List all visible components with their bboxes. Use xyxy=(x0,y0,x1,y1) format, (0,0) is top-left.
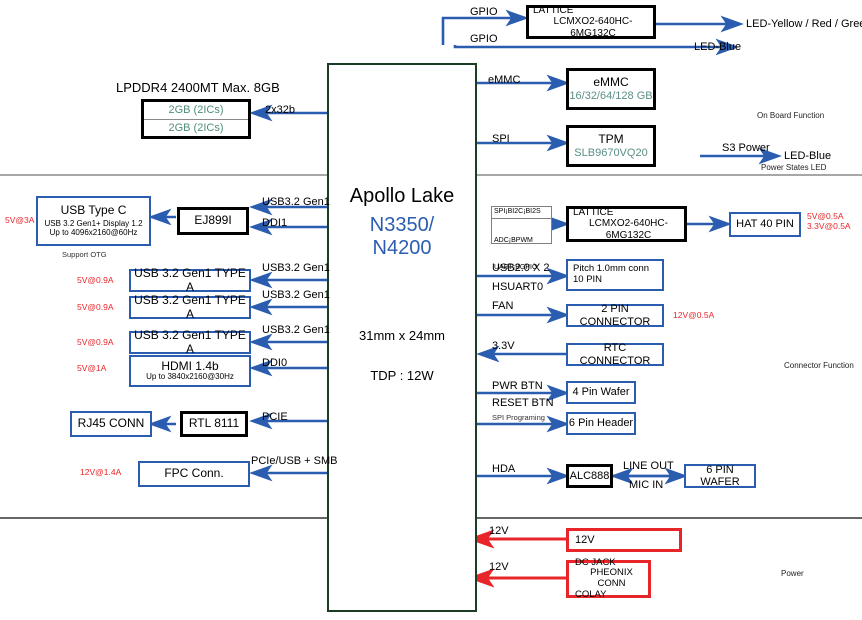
typec-sub2: Up to 4096x2160@60Hz xyxy=(50,229,138,238)
power-rail-1-signal: 12V xyxy=(489,525,509,538)
section-label-connector-function: Connector Function xyxy=(784,361,854,370)
lattice-cpld-onboard[interactable]: LATTICE LCMXO2-640HC-6MG132C xyxy=(526,5,656,39)
emmc-module[interactable]: eMMC 16/32/64/128 GB xyxy=(566,68,656,110)
fan-power-label: 12V@0.5A xyxy=(673,311,714,321)
line-out-label: LINE OUT xyxy=(623,460,674,473)
hdmi-title: HDMI 1.4b xyxy=(161,360,218,373)
usb-type-c-port[interactable]: USB Type C USB 3.2 Gen1+ Display 1.2 Up … xyxy=(36,196,151,246)
pitch-conn-line2: 10 PIN xyxy=(573,275,602,286)
rj45-label: RJ45 CONN xyxy=(78,417,145,430)
power-12v-input[interactable]: 12V xyxy=(566,528,682,552)
soc-title: Apollo Lake xyxy=(350,185,455,208)
rtc-signal-label: 3.3V xyxy=(492,340,515,353)
reset-btn-signal-label: RESET BTN xyxy=(492,397,554,410)
memory-module[interactable]: 2GB (2ICs) 2GB (2ICs) xyxy=(141,99,251,139)
section-label-power-states-led: Power States LED xyxy=(761,163,826,172)
lattice-cpld-hat[interactable]: LATTICE LCMXO2-640HC-6MG132C xyxy=(566,206,687,242)
memory-cell-label: 2GB (2ICs) xyxy=(168,104,223,116)
rtl8111-phy[interactable]: RTL 8111 xyxy=(180,411,248,437)
section-label-power: Power xyxy=(781,569,804,578)
typec-signal-usb: USB3.2 Gen1 xyxy=(262,196,330,209)
power-12v-label: 12V xyxy=(575,534,595,546)
gpio-signal-label: GPIO xyxy=(470,33,498,46)
ej899i-redriver[interactable]: EJ899I xyxy=(177,207,249,235)
memory-bus-label: 2x32b xyxy=(265,104,295,117)
dc-jack-line3: COLAY xyxy=(575,590,607,601)
block-diagram-canvas: Apollo Lake N3350/ N4200 31mm x 24mm TDP… xyxy=(0,0,862,620)
spi-signal-label: SPI xyxy=(492,133,510,146)
fan-conn-label: 2 PIN CONNECTOR xyxy=(568,303,662,328)
memory-heading: LPDDR4 2400MT Max. 8GB xyxy=(116,81,280,96)
usb-a-signal-3: USB3.2 Gen1 xyxy=(262,324,330,337)
tpm-name: TPM xyxy=(598,133,623,146)
header-6pin-label: 6 Pin Header xyxy=(569,417,633,429)
hat-signal-group: SPI¡BI2C¡BI2S ADC¡BPWM UART¡BGPIO xyxy=(491,206,552,244)
usb-a-port-1[interactable]: USB 3.2 Gen1 TYPE A xyxy=(129,269,251,292)
fpc-connector[interactable]: FPC Conn. xyxy=(138,461,250,487)
lattice-part: LCMXO2-640HC-6MG132C xyxy=(573,218,684,240)
ej899i-label: EJ899I xyxy=(194,214,231,227)
dc-jack-connector[interactable]: DC JACK PHEONIX CONN COLAY xyxy=(566,560,651,598)
led-blue-label: LED-Blue xyxy=(694,41,741,54)
dc-jack-line2: PHEONIX CONN xyxy=(575,568,648,589)
hsuart0-signal-label: HSUART0 xyxy=(492,281,543,294)
fpc-label: FPC Conn. xyxy=(164,467,223,480)
alc888-label: ALC888 xyxy=(570,470,610,482)
hat-signal-line: ADC¡BPWM xyxy=(494,237,549,246)
usb-a-label: USB 3.2 Gen1 TYPE A xyxy=(131,329,249,356)
rj45-connector[interactable]: RJ45 CONN xyxy=(70,411,152,437)
typec-otg-label: Support OTG xyxy=(62,251,107,260)
spi-prog-signal-label: SPI Programing xyxy=(492,414,545,423)
fpc-signal-label: PCIe/USB + SMB xyxy=(251,455,338,468)
emmc-name: eMMC xyxy=(593,76,628,89)
lattice-part: LCMXO2-640HC-6MG132C xyxy=(533,16,653,38)
memory-cell-label: 2GB (2ICs) xyxy=(168,122,223,134)
usb-a-signal-2: USB3.2 Gen1 xyxy=(262,289,330,302)
hat-40-pin-label: HAT 40 PIN xyxy=(736,218,794,230)
fan-connector[interactable]: 2 PIN CONNECTOR xyxy=(566,304,664,327)
hdmi-signal-ddi0: DDI0 xyxy=(262,357,287,370)
hdmi-sub: Up to 3840x2160@30Hz xyxy=(146,373,234,382)
alc888-codec[interactable]: ALC888 xyxy=(566,464,613,488)
hat-40-pin-connector[interactable]: HAT 40 PIN xyxy=(729,212,801,237)
tpm-module[interactable]: TPM SLB9670VQ20 xyxy=(566,125,656,167)
lattice-name: LATTICE xyxy=(573,207,613,218)
power-rail-2-signal: 12V xyxy=(489,561,509,574)
audio-wafer-connector[interactable]: 6 PIN WAFER xyxy=(684,464,756,488)
soc-part-line1: N3350/ xyxy=(370,214,435,237)
rtl8111-label: RTL 8111 xyxy=(189,417,239,430)
usb-a-label: USB 3.2 Gen1 TYPE A xyxy=(131,294,249,321)
usb-a-port-2[interactable]: USB 3.2 Gen1 TYPE A xyxy=(129,296,251,319)
usb-a-label: USB 3.2 Gen1 TYPE A xyxy=(131,267,249,294)
usb-a-power-label: 5V@0.9A xyxy=(77,338,114,348)
button-wafer-connector[interactable]: 4 Pin Wafer xyxy=(566,381,636,404)
lan-signal-pcie: PCIE xyxy=(262,411,288,424)
hat-signal-line: SPI¡BI2C¡BI2S xyxy=(492,207,551,218)
hda-signal-label: HDA xyxy=(492,463,515,476)
fpc-power-label: 12V@1.4A xyxy=(80,468,121,478)
hat-power-label-3v3: 3.3V@0.5A xyxy=(807,222,851,232)
usb-a-port-3[interactable]: USB 3.2 Gen1 TYPE A xyxy=(129,331,251,354)
led-rgb-label: LED-Yellow / Red / Green xyxy=(746,18,862,31)
soc-tdp: TDP : 12W xyxy=(370,368,433,383)
s3-power-label: S3 Power xyxy=(722,142,770,155)
pitch-10mm-connector[interactable]: Pitch 1.0mm conn 10 PIN xyxy=(566,259,664,291)
power-state-led-blue-label: LED-Blue xyxy=(784,150,831,163)
lattice-name: LATTICE xyxy=(533,5,573,16)
gpio-signal-label: GPIO xyxy=(470,6,498,19)
hdmi-port[interactable]: HDMI 1.4b Up to 3840x2160@30Hz xyxy=(129,355,251,387)
soc-part-line2: N4200 xyxy=(373,237,432,260)
soc-package-size: 31mm x 24mm xyxy=(359,328,445,343)
emmc-signal-label: eMMC xyxy=(488,74,520,87)
section-label-onboard-function: On Board Function xyxy=(757,111,824,120)
typec-title: USB Type C xyxy=(61,204,127,217)
wafer-4pin-label: 4 Pin Wafer xyxy=(572,386,629,398)
usb-a-power-label: 5V@0.9A xyxy=(77,303,114,313)
rtc-conn-label: RTC CONNECTOR xyxy=(568,342,662,367)
mic-in-label: MIC IN xyxy=(629,479,663,492)
fan-signal-label: FAN xyxy=(492,300,513,313)
usb-a-signal-1: USB3.2 Gen1 xyxy=(262,262,330,275)
pwr-btn-signal-label: PWR BTN xyxy=(492,380,543,393)
typec-power-label: 5V@3A xyxy=(5,216,34,226)
usb-a-power-label: 5V@0.9A xyxy=(77,276,114,286)
tpm-part: SLB9670VQ20 xyxy=(574,147,647,159)
typec-signal-ddi1: DDI1 xyxy=(262,217,287,230)
wafer-6pin-label: 6 PIN WAFER xyxy=(686,464,754,489)
spi-header-connector[interactable]: 6 Pin Header xyxy=(566,412,636,435)
rtc-connector[interactable]: RTC CONNECTOR xyxy=(566,343,664,366)
usb20-signal-label: USB2.0 X 2 xyxy=(492,262,549,275)
soc-apollo-lake[interactable]: Apollo Lake N3350/ N4200 31mm x 24mm TDP… xyxy=(327,63,477,612)
emmc-capacity: 16/32/64/128 GB xyxy=(569,90,652,102)
hdmi-power-label: 5V@1A xyxy=(77,364,106,374)
